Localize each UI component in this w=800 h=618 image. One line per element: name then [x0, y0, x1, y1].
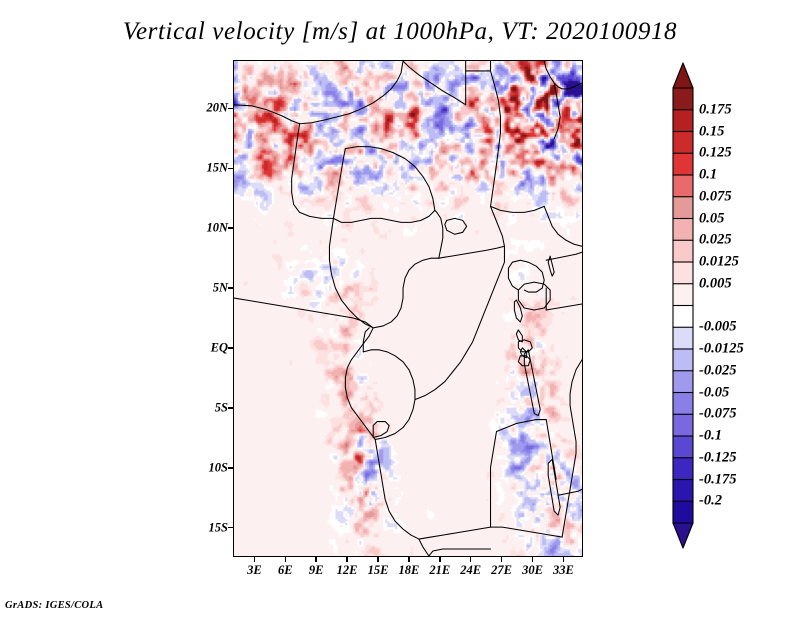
- colorbar-label-7: 0.0125: [699, 254, 739, 271]
- lat-label-15N: 15N: [196, 161, 228, 176]
- colorbar-label-17: -0.2: [699, 493, 722, 510]
- lat-label-20N: 20N: [196, 101, 228, 116]
- tick-lat-10N: [228, 227, 233, 229]
- tick-lat-15N: [228, 168, 233, 170]
- colorbar-label-9: -0.005: [699, 319, 736, 336]
- tick-lon-27E: [501, 557, 503, 562]
- tick-lat-5S: [228, 407, 233, 409]
- lon-label-18E: 18E: [398, 563, 419, 578]
- tick-lon-3E: [254, 557, 256, 562]
- colorbar-label-1: 0.15: [699, 123, 724, 140]
- colorbar[interactable]: 0.1750.150.1250.10.0750.050.0250.01250.0…: [673, 63, 693, 548]
- lat-label-5N: 5N: [196, 281, 228, 296]
- colorbar-label-16: -0.175: [699, 471, 736, 488]
- lon-label-9E: 9E: [309, 563, 324, 578]
- lat-label-EQ: EQ: [196, 341, 228, 356]
- lon-label-24E: 24E: [460, 563, 481, 578]
- tick-lon-9E: [315, 557, 317, 562]
- lat-label-5S: 5S: [196, 400, 228, 415]
- colorbar-label-14: -0.1: [699, 428, 722, 445]
- tick-lon-6E: [285, 557, 287, 562]
- lon-label-12E: 12E: [337, 563, 358, 578]
- colorbar-label-13: -0.075: [699, 406, 736, 423]
- colorbar-label-8: 0.005: [699, 275, 732, 292]
- lon-label-15E: 15E: [368, 563, 389, 578]
- grads-credit: GrADS: IGES/COLA: [5, 600, 103, 611]
- lat-label-15S: 15S: [192, 520, 228, 535]
- tick-lat-5N: [228, 287, 233, 289]
- tick-lon-33E: [563, 557, 565, 562]
- colorbar-label-5: 0.05: [699, 210, 724, 227]
- tick-lat-15S: [228, 527, 233, 529]
- tick-lon-15E: [377, 557, 379, 562]
- colorbar-label-3: 0.1: [699, 167, 717, 184]
- colorbar-swatches: [673, 63, 693, 548]
- colorbar-label-2: 0.125: [699, 145, 732, 162]
- tick-lon-24E: [470, 557, 472, 562]
- colorbar-label-11: -0.025: [699, 362, 736, 379]
- lon-label-6E: 6E: [278, 563, 293, 578]
- colorbar-label-10: -0.0125: [699, 341, 744, 358]
- tick-lat-20N: [228, 108, 233, 110]
- vertical-velocity-field: [234, 61, 582, 556]
- tick-lat-10S: [228, 467, 233, 469]
- lat-label-10N: 10N: [196, 221, 228, 236]
- colorbar-label-0: 0.175: [699, 101, 732, 118]
- tick-lon-21E: [439, 557, 441, 562]
- colorbar-label-12: -0.05: [699, 384, 729, 401]
- colorbar-label-6: 0.025: [699, 232, 732, 249]
- tick-lon-30E: [532, 557, 534, 562]
- tick-lon-18E: [408, 557, 410, 562]
- tick-lon-12E: [346, 557, 348, 562]
- lon-label-3E: 3E: [247, 563, 262, 578]
- lon-label-27E: 27E: [491, 563, 512, 578]
- tick-lat-EQ: [228, 347, 233, 349]
- lon-label-30E: 30E: [522, 563, 543, 578]
- lon-label-33E: 33E: [553, 563, 574, 578]
- map-plot-area[interactable]: [233, 60, 583, 557]
- colorbar-label-15: -0.125: [699, 449, 736, 466]
- lon-label-21E: 21E: [429, 563, 450, 578]
- lat-label-10S: 10S: [192, 460, 228, 475]
- page-title: Vertical velocity [m/s] at 1000hPa, VT: …: [0, 18, 800, 46]
- colorbar-label-4: 0.075: [699, 188, 732, 205]
